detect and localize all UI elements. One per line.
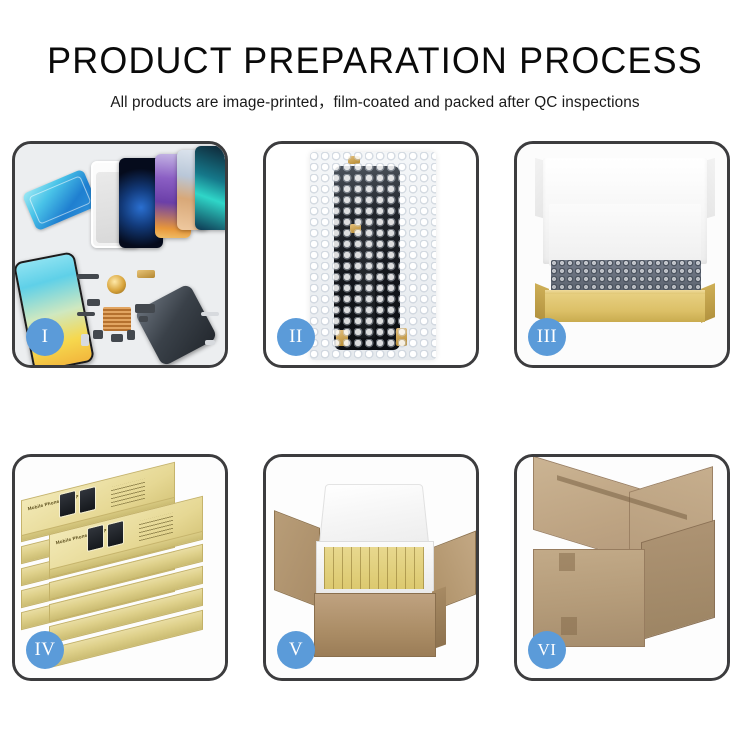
gold-coil-part <box>107 275 126 294</box>
step-badge-6: VI <box>528 631 566 669</box>
foam-sheet <box>549 204 701 266</box>
step-badge-1: I <box>26 318 64 356</box>
step-badge-2: II <box>277 318 315 356</box>
process-step-grid: I II <box>12 141 738 681</box>
process-step-panel-5[interactable]: V <box>263 454 479 681</box>
kraft-boxes-inside <box>324 547 424 589</box>
phone-screen-teal <box>195 146 225 230</box>
step-badge-4: IV <box>26 631 64 669</box>
step-badge-5: V <box>277 631 315 669</box>
process-step-panel-6[interactable]: VI <box>514 454 730 681</box>
page-subtitle: All products are image-printed，film-coat… <box>4 79 747 112</box>
flex-cable <box>359 218 375 338</box>
process-step-panel-4[interactable]: Mobile Phone Spare Parts Mobile Phone Sp… <box>12 454 228 681</box>
header: PRODUCT PREPARATION PROCESS All products… <box>0 0 750 112</box>
process-step-panel-3[interactable]: III <box>514 141 730 368</box>
page-title: PRODUCT PREPARATION PROCESS <box>11 0 739 79</box>
bubble-wrap-pouch <box>310 152 436 360</box>
copper-grid-chip <box>103 307 131 331</box>
kraft-box-front <box>545 294 705 322</box>
step-badge-3: III <box>528 318 566 356</box>
carton-body <box>314 593 436 657</box>
process-step-panel-1[interactable]: I <box>12 141 228 368</box>
process-step-panel-2[interactable]: II <box>263 141 479 368</box>
